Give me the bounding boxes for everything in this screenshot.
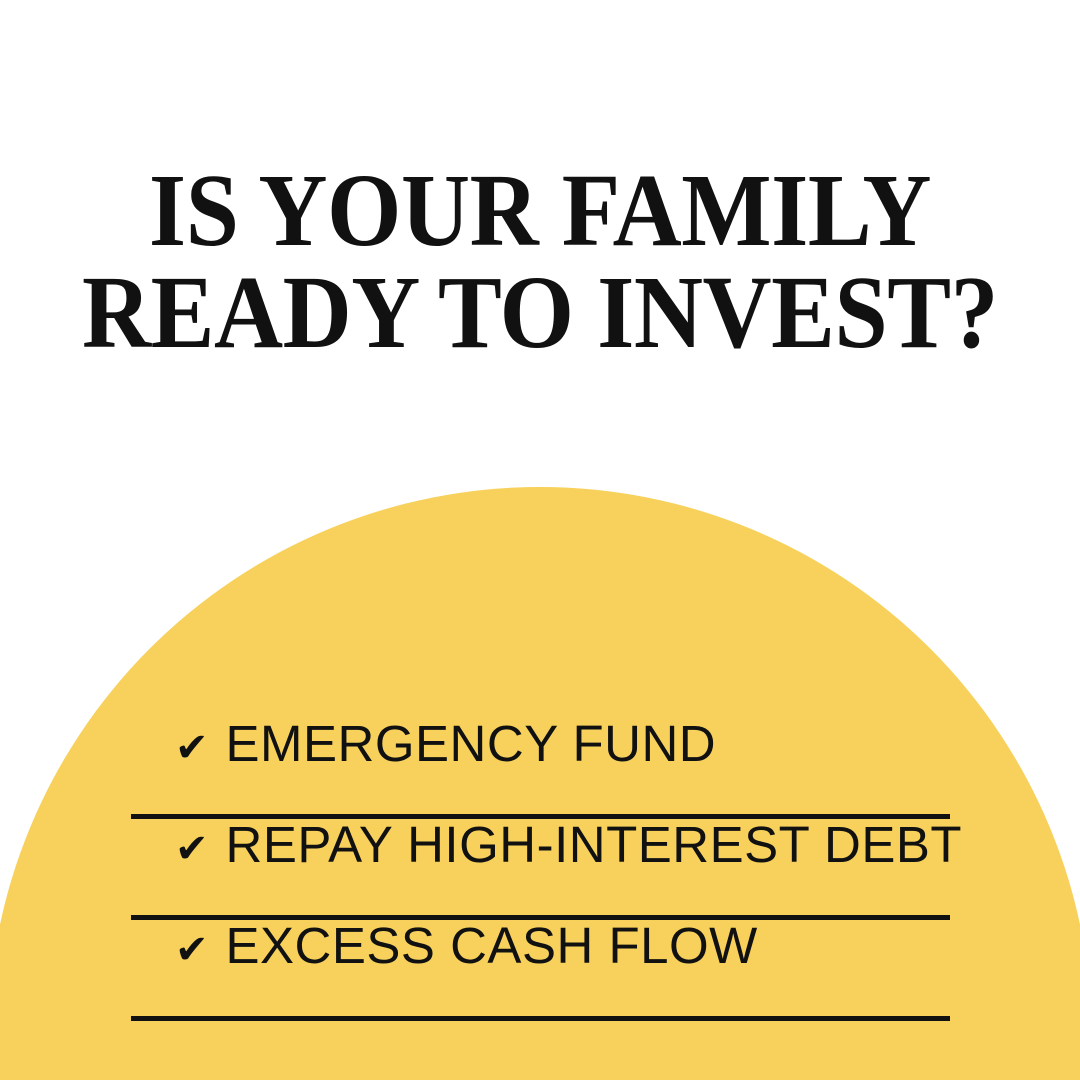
check-icon: ✔ <box>175 728 209 768</box>
poster-canvas: IS YOUR FAMILY READY TO INVEST? ✔ EMERGE… <box>0 0 1080 1080</box>
page-title-line-2: READY TO INVEST? <box>43 262 1037 364</box>
list-item: ✔ EXCESS CASH FLOW <box>131 920 950 1021</box>
checklist: ✔ EMERGENCY FUND ✔ REPAY HIGH-INTEREST D… <box>131 718 950 1021</box>
list-item-label: EMERGENCY FUND <box>226 718 717 769</box>
page-title: IS YOUR FAMILY READY TO INVEST? <box>43 160 1037 364</box>
list-item: ✔ REPAY HIGH-INTEREST DEBT <box>131 819 950 920</box>
check-icon: ✔ <box>175 930 209 970</box>
list-item-label: REPAY HIGH-INTEREST DEBT <box>226 819 963 870</box>
list-item-label: EXCESS CASH FLOW <box>226 920 758 971</box>
check-icon: ✔ <box>175 829 209 869</box>
page-title-line-1: IS YOUR FAMILY <box>43 160 1037 262</box>
list-item: ✔ EMERGENCY FUND <box>131 718 950 819</box>
list-item-divider <box>131 1016 950 1021</box>
